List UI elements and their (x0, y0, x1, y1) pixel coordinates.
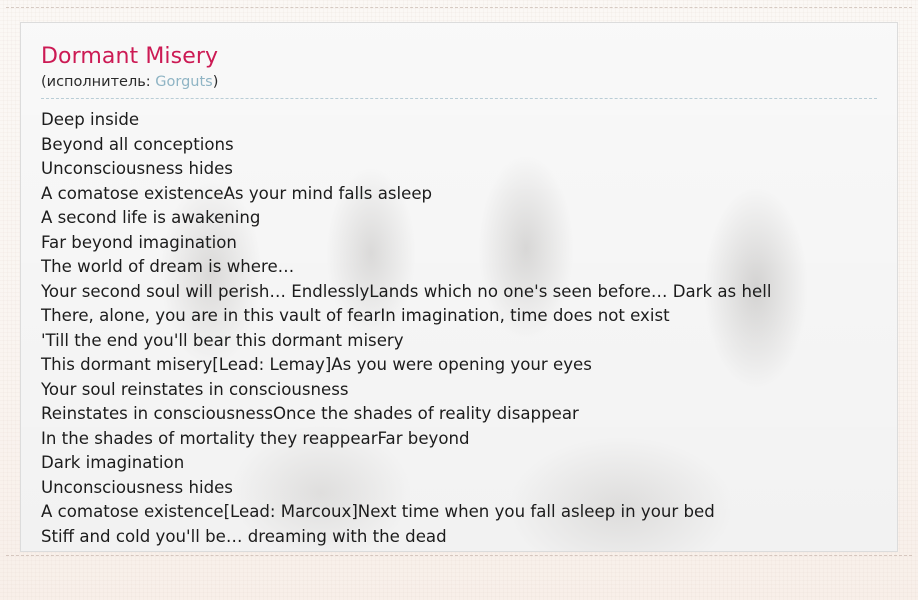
lyric-line: A comatose existence[Lead: Marcoux]Next … (41, 500, 877, 525)
lyric-line: Deep inside (41, 108, 877, 133)
lyric-line: This dormant misery[Lead: Lemay]As you w… (41, 353, 877, 378)
lyric-line: In the shades of mortality they reappear… (41, 427, 877, 452)
lyric-line: Reinstates in consciousnessOnce the shad… (41, 402, 877, 427)
lyric-line: Your second soul will perish… EndlesslyL… (41, 280, 877, 305)
lyric-line: Far beyond imagination (41, 231, 877, 256)
lyric-line: Your soul reinstates in consciousness (41, 378, 877, 403)
lyric-line: Unconsciousness hides (41, 157, 877, 182)
lyric-line: The world of dream is where… (41, 255, 877, 280)
lyric-line: There, alone, you are in this vault of f… (41, 304, 877, 329)
lyric-line: A second life is awakening (41, 206, 877, 231)
lyric-line: Beyond all conceptions (41, 133, 877, 158)
artist-label: (исполнитель: (41, 74, 151, 90)
song-header: Dormant Misery (исполнитель: Gorguts) (41, 43, 877, 99)
lyric-line: Unconsciousness hides (41, 476, 877, 501)
artist-paren-close: ) (213, 74, 219, 90)
lyrics-panel: Dormant Misery (исполнитель: Gorguts) De… (20, 22, 898, 552)
lyric-line: Stiff and cold you'll be… dreaming with … (41, 525, 877, 550)
panel-content: Dormant Misery (исполнитель: Gorguts) De… (21, 23, 897, 552)
lyric-line: A comatose existenceAs your mind falls a… (41, 182, 877, 207)
page-title: Dormant Misery (41, 43, 877, 71)
lyric-line: Dark imagination (41, 451, 877, 476)
lyric-line: 'Till the end you'll bear this dormant m… (41, 329, 877, 354)
artist-byline: (исполнитель: Gorguts) (41, 72, 877, 92)
lyrics-text: Deep inside Beyond all conceptions Uncon… (41, 108, 877, 549)
artist-link[interactable]: Gorguts (155, 74, 212, 90)
